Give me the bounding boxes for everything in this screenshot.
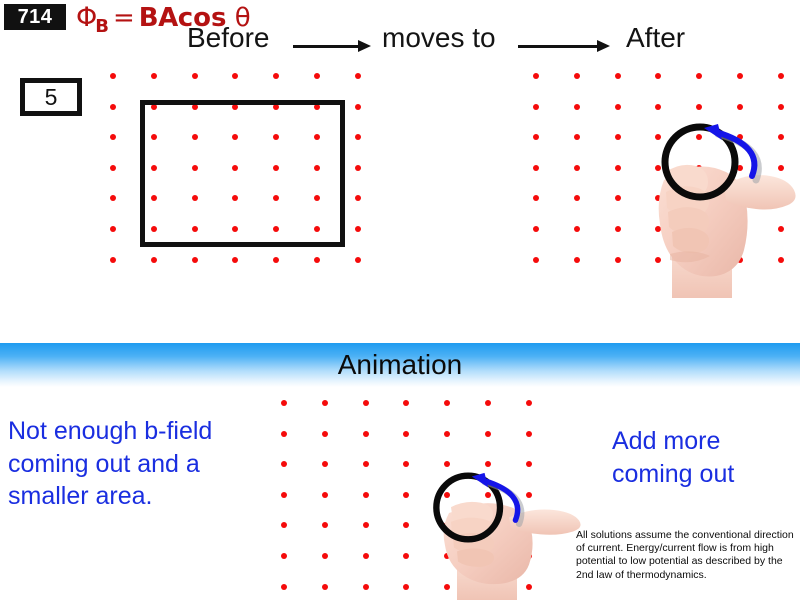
field-dot: [615, 73, 621, 79]
field-dot: [232, 257, 238, 263]
field-dot: [281, 522, 287, 528]
moves-to-label: moves to: [382, 22, 496, 54]
field-dot: [574, 134, 580, 140]
current-loop-rectangle: [140, 100, 345, 247]
field-dot: [192, 257, 198, 263]
slide-number-badge: 714: [4, 4, 66, 30]
field-dot: [574, 73, 580, 79]
field-dot: [322, 461, 328, 467]
field-dot: [110, 226, 116, 232]
field-dot: [281, 492, 287, 498]
step-number-box: 5: [20, 78, 82, 116]
field-dot: [574, 165, 580, 171]
field-dot: [322, 400, 328, 406]
field-dot: [533, 104, 539, 110]
field-dot: [355, 165, 361, 171]
field-dot: [110, 104, 116, 110]
field-dot: [655, 73, 661, 79]
after-loop-and-current-arrow: [648, 112, 800, 222]
field-dot: [533, 134, 539, 140]
field-dot: [533, 257, 539, 263]
field-dot: [281, 461, 287, 467]
field-dot: [314, 73, 320, 79]
field-dot: [363, 492, 369, 498]
arrow-shaft: [293, 45, 359, 48]
field-dot: [363, 584, 369, 590]
field-dot: [574, 104, 580, 110]
field-dot: [355, 73, 361, 79]
field-dot: [696, 73, 702, 79]
field-dot: [232, 73, 238, 79]
field-dot: [363, 461, 369, 467]
field-dot: [281, 584, 287, 590]
field-dot: [485, 400, 491, 406]
field-dot: [322, 431, 328, 437]
field-dot: [526, 431, 532, 437]
field-dot: [110, 165, 116, 171]
field-dot: [533, 165, 539, 171]
field-dot: [110, 195, 116, 201]
field-dot: [281, 553, 287, 559]
field-dot: [192, 73, 198, 79]
field-dot: [533, 73, 539, 79]
arrow-head: [358, 40, 371, 52]
field-dot: [363, 431, 369, 437]
field-dot: [778, 73, 784, 79]
field-dot: [322, 522, 328, 528]
field-dot: [355, 226, 361, 232]
field-dot: [574, 195, 580, 201]
field-dot: [485, 431, 491, 437]
field-dot: [444, 431, 450, 437]
transition-arrow-2-icon: [518, 40, 610, 52]
equals-sign: =: [113, 3, 135, 33]
after-label: After: [626, 22, 685, 54]
field-dot: [151, 73, 157, 79]
field-dot: [110, 134, 116, 140]
transition-arrow-1-icon: [293, 40, 371, 52]
arrow-shaft: [518, 45, 598, 48]
animation-title: Animation: [0, 349, 800, 381]
field-dot: [403, 431, 409, 437]
field-dot: [737, 73, 743, 79]
field-dot: [526, 400, 532, 406]
field-dot: [363, 400, 369, 406]
field-dot: [273, 73, 279, 79]
field-dot: [403, 400, 409, 406]
field-dot: [574, 226, 580, 232]
arrow-head: [597, 40, 610, 52]
field-dot: [533, 226, 539, 232]
field-dot: [110, 257, 116, 263]
field-dot: [281, 400, 287, 406]
slide-canvas: 714 ΦB=BAcos θ Before moves to After 5: [0, 0, 800, 600]
step-number-value: 5: [45, 84, 58, 111]
field-dot: [322, 584, 328, 590]
field-dot: [355, 104, 361, 110]
ba-term: BA: [139, 3, 178, 33]
disclaimer-text: All solutions assume the conventional di…: [576, 529, 798, 582]
field-dot: [281, 431, 287, 437]
field-dot: [444, 400, 450, 406]
field-dot: [355, 134, 361, 140]
field-dot: [533, 195, 539, 201]
field-dot: [151, 257, 157, 263]
field-dot: [574, 257, 580, 263]
field-dot: [322, 492, 328, 498]
field-dot: [314, 257, 320, 263]
field-dot: [322, 553, 328, 559]
field-dot: [363, 553, 369, 559]
field-dot: [355, 257, 361, 263]
field-dot: [273, 257, 279, 263]
phi-subscript-b: B: [95, 16, 109, 37]
field-dot: [355, 195, 361, 201]
animation-loop-and-current-arrow: [415, 462, 565, 562]
field-dot: [363, 522, 369, 528]
before-label: Before: [187, 22, 270, 54]
note-right-text: Add more coming out: [612, 425, 797, 490]
field-dot: [110, 73, 116, 79]
note-left-text: Not enough b-field coming out and a smal…: [8, 415, 278, 513]
